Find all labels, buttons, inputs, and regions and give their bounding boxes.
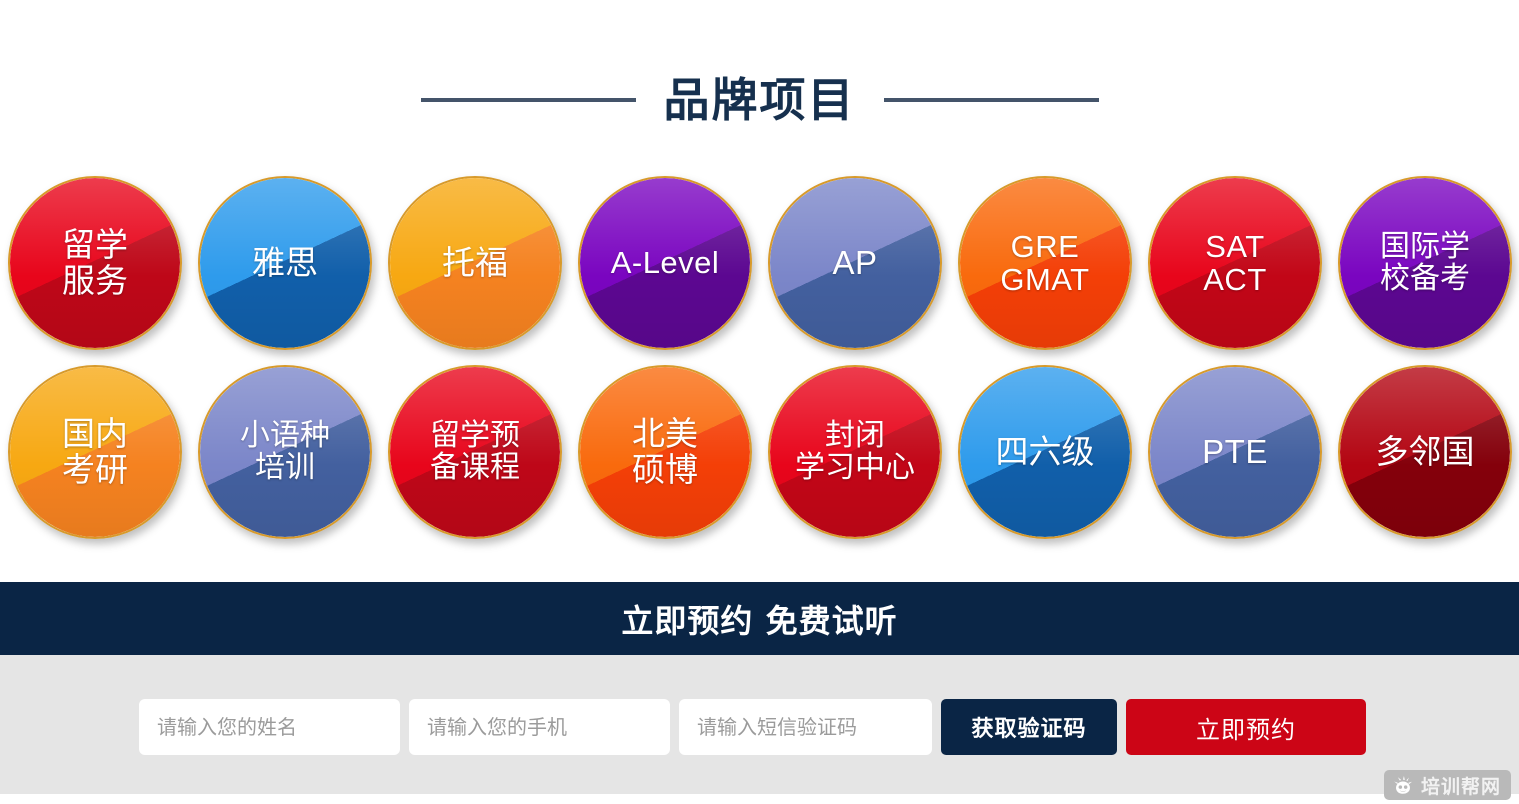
program-row-2: 国内 考研小语种 培训留学预 备课程北美 硕博封闭 学习中心四六级PTE多邻国 [8, 365, 1512, 539]
program-circle-tuofu-toefl[interactable]: 托福 [388, 176, 562, 350]
program-circle-sat-act[interactable]: SAT ACT [1148, 176, 1322, 350]
program-circle-label: 雅思 [246, 245, 324, 281]
program-circle-si-liu-ji[interactable]: 四六级 [958, 365, 1132, 539]
phone-input[interactable] [409, 699, 670, 755]
program-circle-a-level[interactable]: A-Level [578, 176, 752, 350]
program-circle-label: GRE GMAT [994, 230, 1095, 297]
program-circle-label: 托福 [436, 245, 514, 281]
program-circle-label: 留学预 备课程 [424, 420, 526, 485]
page-title: 品牌项目 [664, 77, 856, 123]
cta-banner-text: 立即预约 免费试听 [621, 596, 897, 642]
booking-form-strip: 获取验证码 立即预约 [0, 655, 1519, 794]
program-circle-duolingguo[interactable]: 多邻国 [1338, 365, 1512, 539]
section-title-row: 品牌项目 [0, 60, 1519, 140]
name-input[interactable] [139, 699, 400, 755]
program-circle-label: 留学 服务 [56, 227, 134, 298]
program-grid: 留学 服务雅思托福A-LevelAPGRE GMATSAT ACT国际学 校备考… [8, 176, 1512, 539]
program-circle-ap[interactable]: AP [768, 176, 942, 350]
program-circle-label: 北美 硕博 [626, 416, 704, 487]
watermark-text: 培训帮网 [1421, 772, 1501, 799]
site-watermark: 培训帮网 [1384, 770, 1511, 800]
submit-booking-button[interactable]: 立即预约 [1126, 699, 1366, 755]
program-circle-beimei-shuobo[interactable]: 北美 硕博 [578, 365, 752, 539]
booking-form: 获取验证码 立即预约 [139, 699, 1375, 755]
program-circle-liuxue-fuwu[interactable]: 留学 服务 [8, 176, 182, 350]
program-circle-yasi-ielts[interactable]: 雅思 [198, 176, 372, 350]
program-circle-xiaoyuzhong-peixun[interactable]: 小语种 培训 [198, 365, 372, 539]
program-circle-label: 四六级 [990, 434, 1101, 470]
program-circle-label: 封闭 学习中心 [789, 420, 921, 485]
program-circle-label: 多邻国 [1370, 434, 1481, 470]
program-circle-guoji-xuexiao-beikao[interactable]: 国际学 校备考 [1338, 176, 1512, 350]
brand-programs-page: 品牌项目 留学 服务雅思托福A-LevelAPGRE GMATSAT ACT国际… [0, 0, 1519, 804]
program-circle-fengbi-xuexi-zhongxin[interactable]: 封闭 学习中心 [768, 365, 942, 539]
sms-code-input[interactable] [679, 699, 932, 755]
program-circle-label: PTE [1196, 434, 1274, 470]
program-circle-label: 国内 考研 [56, 416, 134, 487]
cta-banner: 立即预约 免费试听 [0, 582, 1519, 655]
sun-eye-icon [1392, 774, 1414, 796]
program-circle-pte[interactable]: PTE [1148, 365, 1322, 539]
title-rule-left [421, 98, 636, 102]
program-circle-liuxue-yubei-kecheng[interactable]: 留学预 备课程 [388, 365, 562, 539]
program-row-1: 留学 服务雅思托福A-LevelAPGRE GMATSAT ACT国际学 校备考 [8, 176, 1512, 350]
get-code-button[interactable]: 获取验证码 [941, 699, 1117, 755]
program-circle-label: SAT ACT [1197, 230, 1273, 297]
program-circle-label: 小语种 培训 [234, 420, 336, 485]
program-circle-label: 国际学 校备考 [1374, 231, 1476, 296]
program-circle-guonei-kaoyan[interactable]: 国内 考研 [8, 365, 182, 539]
program-circle-label: A-Level [605, 246, 726, 279]
program-circle-gre-gmat[interactable]: GRE GMAT [958, 176, 1132, 350]
title-rule-right [884, 98, 1099, 102]
program-circle-label: AP [826, 245, 883, 281]
